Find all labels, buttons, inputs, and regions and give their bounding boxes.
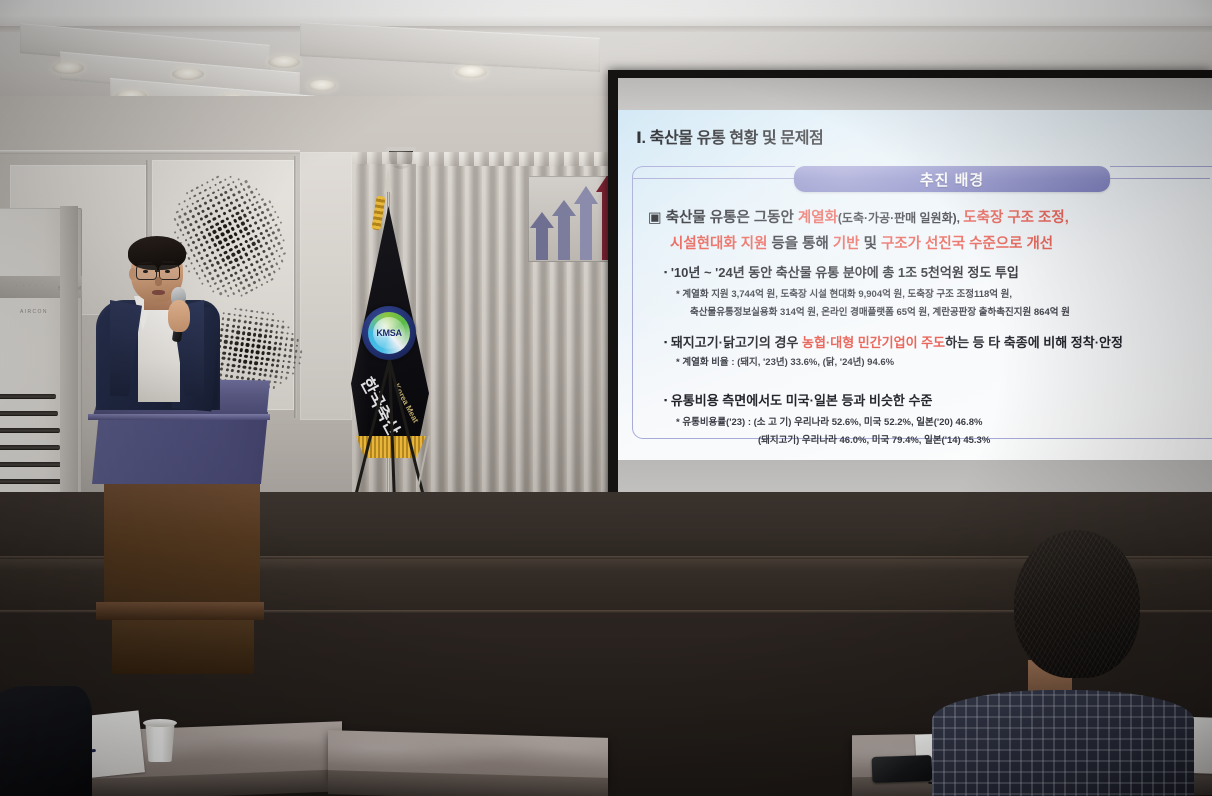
seg-red: 구조가 선진국 수준으로 개선	[881, 236, 1053, 252]
seg: 축산물 유통은 그동안	[666, 210, 798, 226]
slide-title: Ⅰ. 축산물 유통 현황 및 문제점	[636, 124, 823, 148]
paper-cup-rim	[143, 719, 177, 727]
kmsa-emblem: KMSA	[362, 306, 416, 360]
audience-torso	[932, 690, 1194, 796]
screen-top-band	[618, 78, 1212, 110]
podium-front	[92, 412, 268, 484]
podium-edge	[88, 414, 270, 420]
slide-subbullet-1: ▪ '10년 ~ '24년 동안 축산물 유통 분야에 총 1조 5천억원 정도…	[664, 262, 1019, 281]
foreground-attendee	[0, 686, 92, 796]
wall-ledge	[0, 150, 300, 154]
seg-red: 도축장 구조 조정,	[963, 210, 1068, 226]
ceiling-beam	[0, 26, 1212, 32]
smartphone	[872, 755, 933, 783]
seg-red: 시설현대화 지원	[670, 236, 767, 252]
slide-note: (돼지고기) 우리나라 46.0%, 미국 79.4%, 일본('14) 45.…	[758, 432, 990, 446]
seg-red: 기반	[833, 236, 860, 252]
slide-note: * 계열화 지원 3,744억 원, 도축장 시설 현대화 9,904억 원, …	[676, 286, 1012, 300]
downlight	[172, 68, 204, 80]
subbullet-text: '10년 ~ '24년 동안 축산물 유통 분야에 총 1조 5천억원 정도 투…	[671, 265, 1019, 280]
downlight	[52, 62, 84, 74]
slide-note: * 유통비용률('23) : (소 고 기) 우리나라 52.6%, 미국 52…	[676, 414, 982, 428]
speaker-ear	[129, 268, 136, 280]
slide-bullet-main-line1: ▣ 축산물 유통은 그동안 계열화(도축·가공·판매 일원화), 도축장 구조 …	[648, 206, 1069, 227]
speaker-nose	[155, 277, 162, 286]
slide-bullet-main-line2: 시설현대화 지원 등을 통해 기반 및 구조가 선진국 수준으로 개선	[670, 232, 1053, 253]
projection-screen: Ⅰ. 축산물 유통 현황 및 문제점 추진 배경 ▣ 축산물 유통은 그동안 계…	[618, 78, 1212, 522]
slide-note: 축산물유통정보실용화 314억 원, 온라인 경매플랫폼 65억 원, 계란공판…	[690, 304, 1070, 318]
slide-box-corner-left	[632, 166, 795, 181]
podium-plinth	[112, 612, 254, 674]
audience-head	[1014, 530, 1140, 678]
speaker-glasses-bridge	[155, 270, 160, 272]
speaker-glasses-right	[159, 265, 180, 280]
bullet-marker: ▪	[664, 337, 667, 347]
ceiling-soffit	[0, 0, 1212, 26]
speaker-hand	[168, 300, 190, 332]
slide-subbullet-3: ▪ 유통비용 측면에서도 미국·일본 등과 비슷한 수준	[664, 390, 932, 409]
podium-foot	[96, 602, 264, 620]
subbullet-text: 유통비용 측면에서도 미국·일본 등과 비슷한 수준	[671, 393, 933, 408]
downlight	[455, 66, 487, 78]
seg-red: 농협·대형 민간기업이 주도	[802, 335, 945, 350]
downlight	[268, 56, 300, 68]
wall-panel	[300, 152, 352, 420]
slide-subbullet-2: ▪ 돼지고기·닭고기의 경우 농협·대형 민간기업이 주도하는 등 타 축종에 …	[664, 332, 1123, 351]
downlight	[308, 80, 336, 91]
slide-note: * 계열화 비율 : (돼지, '23년) 33.6%, (닭, '24년) 9…	[676, 354, 894, 368]
seg: (도축·가공·판매 일원화),	[838, 211, 963, 225]
speaker-mouth	[152, 290, 165, 295]
seg: 돼지고기·닭고기의 경우	[671, 335, 802, 350]
conference-photo: · · · · · SYSTEM AIRCON Ⅰ. 축산물 유통 현황 및 문…	[0, 0, 1212, 796]
slide-box-corner-right	[1110, 166, 1212, 181]
bullet-marker: ▪	[664, 267, 667, 277]
seg-red: 계열화	[798, 210, 838, 226]
flag-finial	[384, 168, 392, 194]
slide-content: Ⅰ. 축산물 유통 현황 및 문제점 추진 배경 ▣ 축산물 유통은 그동안 계…	[618, 110, 1212, 460]
seg: 등을 통해	[767, 236, 832, 252]
podium-column	[104, 470, 260, 620]
seg: 및	[860, 236, 881, 252]
paper-cup	[144, 722, 176, 762]
bullet-marker: ▪	[664, 395, 667, 405]
bullet-marker: ▣	[648, 210, 662, 226]
seg: 하는 등 타 축종에 비해 정착·안정	[945, 335, 1123, 350]
kmsa-emblem-text: KMSA	[376, 328, 401, 338]
